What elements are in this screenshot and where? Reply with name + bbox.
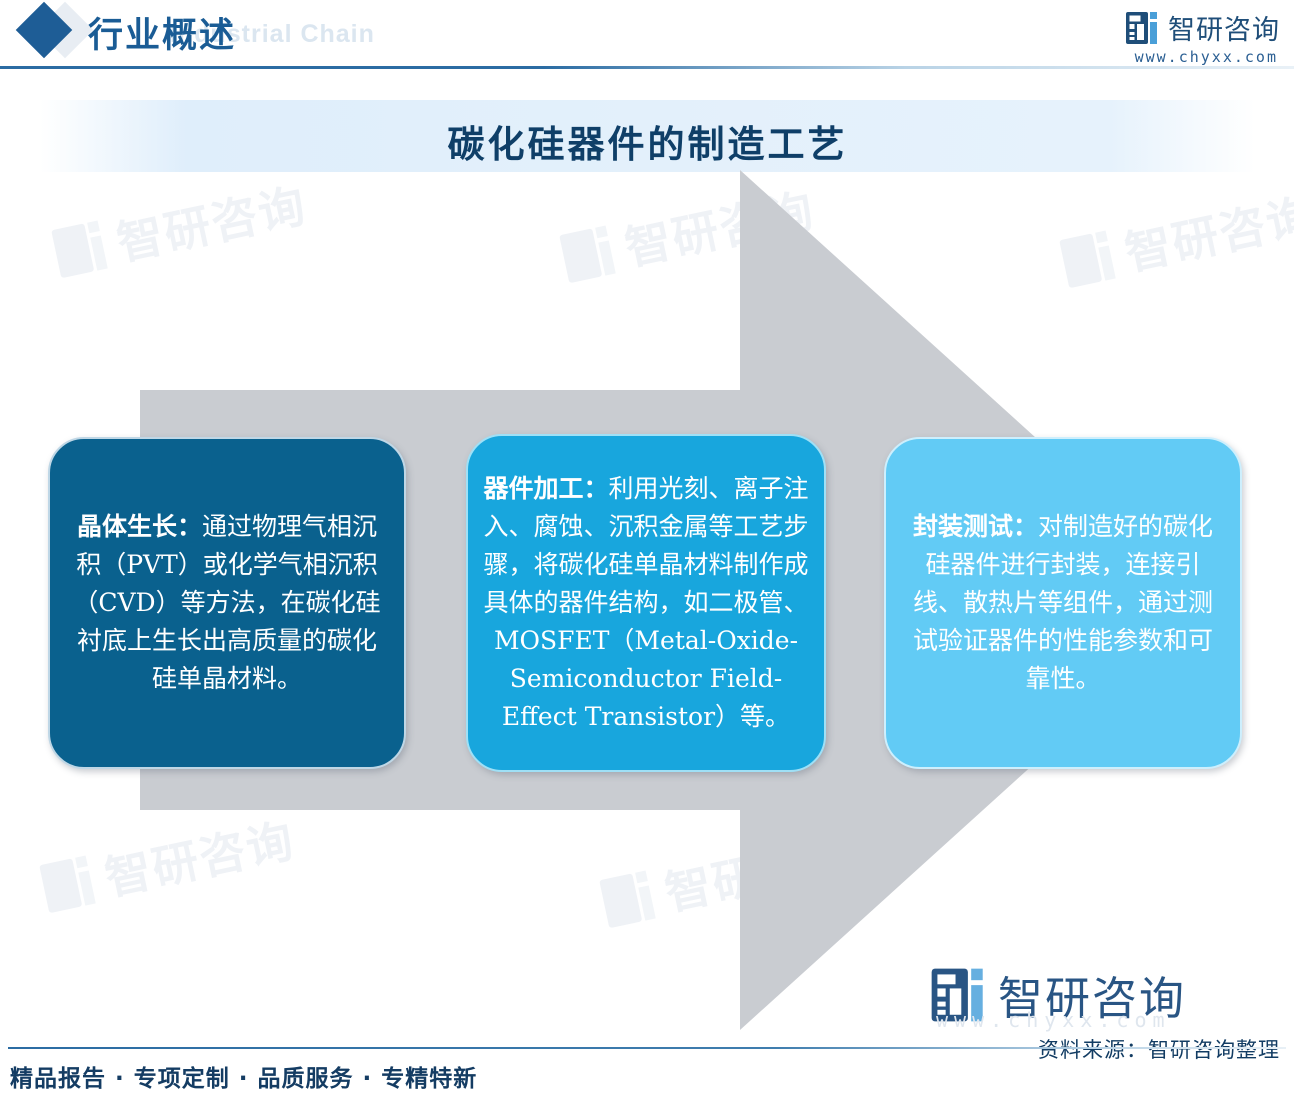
process-step-card-crystal-growth[interactable]: 晶体生长：通过物理气相沉积（PVT）或化学气相沉积（CVD）等方法，在碳化硅衬底… <box>48 437 406 769</box>
card-lead-label: 封装测试： <box>913 512 1038 541</box>
footer-divider <box>8 1047 1286 1049</box>
brand-url-bottom: www.chyxx.com <box>936 1008 1171 1032</box>
source-note: 资料来源：智研咨询整理 <box>1038 1034 1280 1064</box>
card-text: 晶体生长：通过物理气相沉积（PVT）或化学气相沉积（CVD）等方法，在碳化硅衬底… <box>50 508 404 698</box>
card-description: 利用光刻、离子注入、腐蚀、沉积金属等工艺步骤，将碳化硅单晶材料制作成具体的器件结… <box>483 474 808 731</box>
page-header: Industrial Chain 行业概述 智研咨询 www.chyxx.com <box>0 0 1294 68</box>
header-divider <box>0 66 1294 69</box>
card-lead-label: 器件加工： <box>483 474 608 503</box>
card-text: 器件加工：利用光刻、离子注入、腐蚀、沉积金属等工艺步骤，将碳化硅单晶材料制作成具… <box>468 470 824 736</box>
chyxx-logo-icon <box>1125 11 1159 45</box>
process-step-card-packaging-testing[interactable]: 封装测试：对制造好的碳化硅器件进行封装，连接引线、散热片等组件，通过测试验证器件… <box>884 437 1242 769</box>
brand-url-top: www.chyxx.com <box>1135 48 1278 66</box>
brand-logo-top: 智研咨询 <box>1125 8 1280 47</box>
card-text: 封装测试：对制造好的碳化硅器件进行封装，连接引线、散热片等组件，通过测试验证器件… <box>886 508 1240 698</box>
page-title: 行业概述 <box>88 7 236 58</box>
process-step-card-device-processing[interactable]: 器件加工：利用光刻、离子注入、腐蚀、沉积金属等工艺步骤，将碳化硅单晶材料制作成具… <box>466 434 826 772</box>
footer-tagline: 精品报告 · 专项定制 · 品质服务 · 专精特新 <box>10 1059 477 1093</box>
brand-name-top: 智研咨询 <box>1168 8 1280 47</box>
card-lead-label: 晶体生长： <box>77 512 202 541</box>
